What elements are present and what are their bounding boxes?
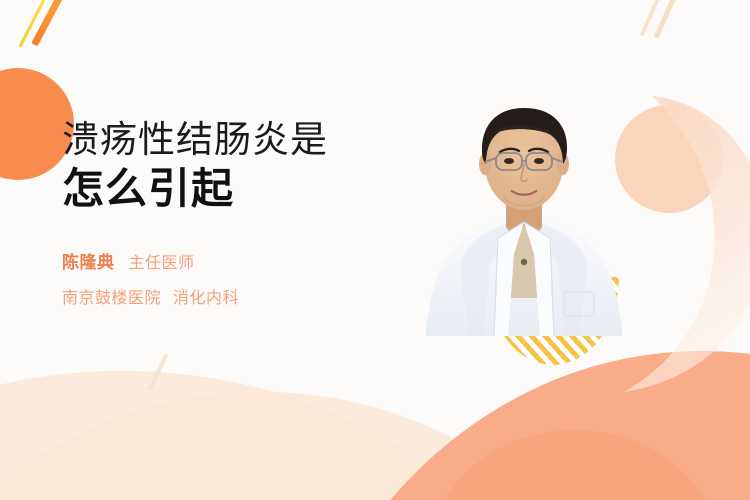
title-line-2: 怎么引起 [62,164,422,214]
credits: 陈隆典 主任医师 南京鼓楼医院 消化内科 [62,248,422,308]
doctor-title: 主任医师 [129,249,195,273]
top-right-cream-streak-2 [654,0,681,39]
doctor-name: 陈隆典 [62,248,115,273]
video-thumbnail-card: 溃疡性结肠炎是 怎么引起 陈隆典 主任医师 南京鼓楼医院 消化内科 [0,0,750,500]
text-block: 溃疡性结肠炎是 怎么引起 陈隆典 主任医师 南京鼓楼医院 消化内科 [62,118,422,319]
hospital-name: 南京鼓楼医院 [62,284,161,308]
doctor-portrait [424,86,624,336]
doctor-credit-row: 陈隆典 主任医师 [62,248,422,273]
top-left-orange-streak [31,0,63,46]
department-name: 消化内科 [173,284,239,308]
title-line-1: 溃疡性结肠炎是 [62,118,422,162]
hospital-credit-row: 南京鼓楼医院 消化内科 [62,284,422,308]
